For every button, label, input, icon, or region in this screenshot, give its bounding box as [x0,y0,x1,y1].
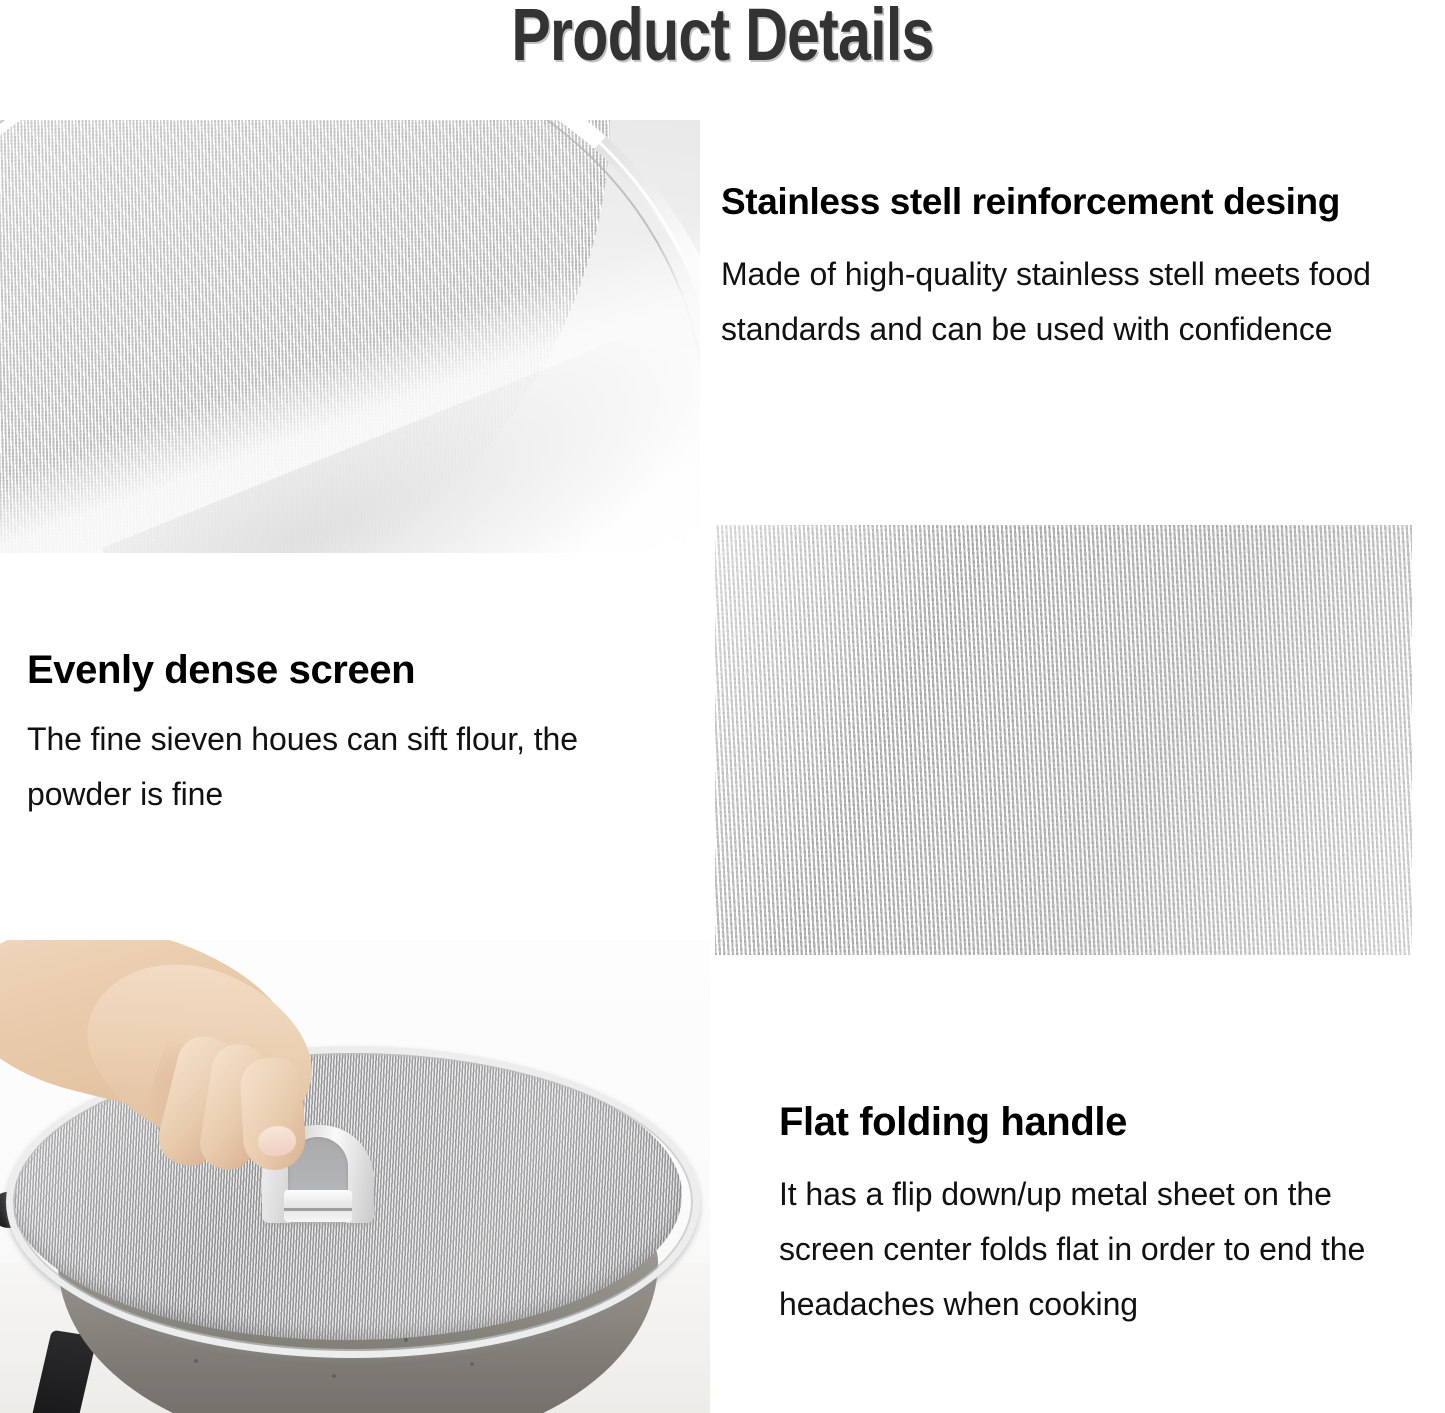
product-photo-mesh-rim [0,120,700,553]
product-photo-handle-in-use [0,940,710,1413]
product-photo-dense-mesh [715,525,1412,955]
feature-body: The fine sieven houes can sift flour, th… [27,712,687,822]
mesh-shading [715,525,1412,955]
page-title: Product Details [145,0,1301,74]
folding-handle-hinge [284,1208,352,1211]
folding-handle-base [284,1190,352,1222]
feature-block-folding-handle: Flat folding handle It has a flip down/u… [779,1097,1434,1332]
feature-block-stainless-steel: Stainless stell reinforcement desing Mad… [721,178,1445,357]
feature-heading: Stainless stell reinforcement desing [721,178,1445,225]
feature-block-dense-screen: Evenly dense screen The fine sieven houe… [27,645,687,822]
feature-heading: Evenly dense screen [27,645,687,695]
feature-heading: Flat folding handle [779,1097,1434,1147]
feature-body: It has a flip down/up metal sheet on the… [779,1167,1434,1332]
feature-body: Made of high-quality stainless stell mee… [721,247,1445,357]
